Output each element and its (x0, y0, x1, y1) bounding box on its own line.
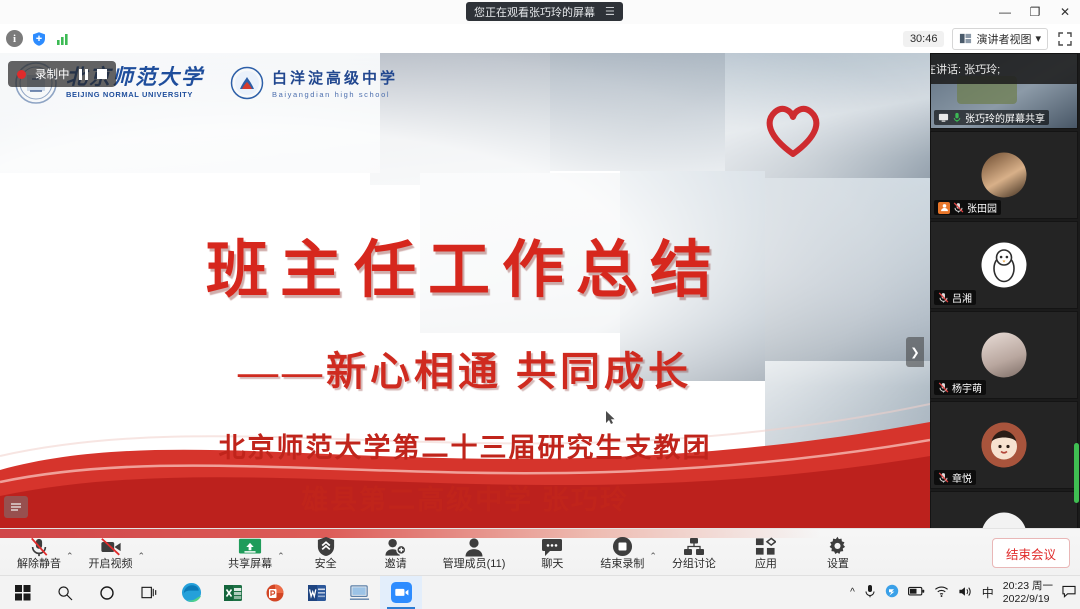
share-screen-label: 共享屏幕 (228, 559, 272, 570)
slide-presenter: 雄县第二高级中学 张巧玲 (0, 478, 930, 517)
active-speaker-label: 正在讲话: 张巧玲; (930, 61, 1000, 77)
pause-icon[interactable] (79, 69, 89, 80)
participants-icon (463, 535, 485, 557)
microphone-icon[interactable] (864, 584, 876, 601)
microphone-muted-icon (938, 292, 949, 303)
shared-screen-stage: 北京师范大学 BEIJING NORMAL UNIVERSITY 白洋淀高级中学… (0, 53, 1080, 528)
rail-scrollbar-thumb[interactable] (1074, 443, 1079, 503)
chat-label: 聊天 (541, 559, 563, 570)
edge-icon[interactable] (170, 576, 212, 609)
breakout-rooms-button[interactable]: 分组讨论 (665, 529, 723, 576)
collapse-video-panel-button[interactable]: ❯ (906, 337, 924, 367)
excel-icon[interactable] (212, 576, 254, 609)
volume-icon[interactable] (958, 585, 973, 601)
powerpoint-icon[interactable] (254, 576, 296, 609)
recording-label: 录制中 (35, 66, 70, 82)
view-mode-label: 演讲者视图 (976, 31, 1031, 47)
microphone-muted-icon (953, 202, 964, 213)
meeting-timer: 30:46 (903, 31, 945, 47)
task-view-icon[interactable] (128, 576, 170, 609)
word-icon[interactable] (296, 576, 338, 609)
invite-button[interactable]: 邀请 (367, 529, 425, 576)
mute-button-label: 解除静音 (17, 559, 61, 570)
recording-dot-icon (17, 70, 26, 79)
settings-label: 设置 (827, 559, 849, 570)
notification-icon[interactable] (1062, 585, 1076, 601)
participant-name: 吕湘 (952, 290, 972, 305)
microphone-muted-icon (29, 535, 49, 557)
meeting-status-icons: i (6, 24, 71, 53)
zoom-meeting-window: 您正在观看张巧玲的屏幕 ☰ — ❐ ✕ i 30:46 演讲者视图 ▾ (0, 0, 1080, 608)
participant-name-bar: 吕湘 (934, 290, 976, 305)
settings-button[interactable]: 设置 (809, 529, 867, 576)
view-mode-dropdown[interactable]: 演讲者视图 ▾ (952, 28, 1048, 50)
security-shield-icon (316, 535, 336, 557)
share-screen-icon (238, 535, 262, 557)
invite-label: 邀请 (385, 559, 407, 570)
baiyangdian-logo-cn: 白洋淀高级中学 (272, 67, 398, 88)
red-heart-drawing (762, 101, 824, 159)
end-meeting-button[interactable]: 结束会议 (992, 538, 1070, 568)
maximize-button[interactable]: ❐ (1020, 0, 1050, 24)
chat-bubble-icon (541, 535, 563, 557)
tray-chevron-up-icon[interactable]: ^ (850, 587, 855, 598)
screen-share-label: 张巧玲的屏幕共享 (934, 110, 1049, 125)
stop-recording-label: 结束录制 (600, 559, 644, 570)
slide-subtitle: ——新心相通 共同成长 (0, 339, 930, 397)
video-off-icon (100, 535, 122, 557)
window-title-bar: 您正在观看张巧玲的屏幕 ☰ — ❐ ✕ (0, 0, 1080, 25)
gear-icon (827, 535, 848, 557)
avatar (982, 423, 1027, 468)
host-badge-icon (938, 202, 950, 214)
screen-share-owner: 张巧玲的屏幕共享 (965, 110, 1045, 125)
manage-participants-label: 管理成员(11) (443, 559, 506, 570)
security-button[interactable]: 安全 (297, 529, 355, 576)
viewing-screen-notice: 您正在观看张巧玲的屏幕 ☰ (466, 2, 623, 21)
microphone-icon (952, 112, 962, 123)
taskbar-date: 2022/9/19 (1003, 593, 1053, 605)
minimize-button[interactable]: — (990, 0, 1020, 24)
baiyangdian-seal-icon (230, 66, 264, 100)
apps-label: 应用 (755, 559, 777, 570)
wifi-icon[interactable] (934, 585, 949, 601)
security-label: 安全 (315, 559, 337, 570)
info-icon[interactable]: i (6, 30, 23, 47)
recording-indicator: 录制中 (8, 61, 116, 87)
participant-tile[interactable]: 张田园 (930, 131, 1078, 219)
network-signal-icon[interactable] (54, 30, 71, 47)
apps-button[interactable]: 应用 (737, 529, 795, 576)
slide-title: 班主任工作总结 (0, 219, 930, 309)
screen-share-icon (938, 112, 949, 123)
baiyangdian-logo: 白洋淀高级中学 Baiyangdian high school (230, 66, 398, 100)
windows-taskbar: ^ 中 20:23 周一 2022/9/19 (0, 575, 1080, 609)
taskbar-clock[interactable]: 20:23 周一 2022/9/19 (1003, 580, 1053, 605)
speaker-view-icon (959, 32, 972, 45)
chevron-down-icon[interactable]: ▾ (1035, 32, 1041, 45)
window-controls: — ❐ ✕ (990, 0, 1080, 24)
shield-icon[interactable] (30, 30, 47, 47)
close-button[interactable]: ✕ (1050, 0, 1080, 24)
meeting-view-controls: 30:46 演讲者视图 ▾ (903, 24, 1074, 53)
remote-desktop-icon[interactable] (338, 576, 380, 609)
fullscreen-icon[interactable] (1056, 30, 1074, 48)
participant-video-rail: 张巧玲的屏幕共享 正在讲话: 张巧玲; 张田园 (930, 53, 1080, 528)
hamburger-icon[interactable]: ☰ (605, 5, 615, 18)
apps-grid-icon (755, 535, 776, 557)
breakout-rooms-label: 分组讨论 (672, 559, 716, 570)
viewing-screen-notice-text: 您正在观看张巧玲的屏幕 (474, 4, 595, 20)
bnu-logo-en: BEIJING NORMAL UNIVERSITY (66, 91, 204, 99)
meeting-top-bar: i 30:46 演讲者视图 ▾ (0, 24, 1080, 54)
participant-name-bar: 章悦 (934, 470, 976, 485)
zoom-icon[interactable] (380, 576, 422, 609)
stop-icon[interactable] (97, 69, 107, 79)
share-screen-button[interactable]: 共享屏幕 (221, 529, 279, 576)
start-button[interactable] (2, 576, 44, 609)
participant-name: 杨宇萌 (952, 380, 982, 395)
meeting-control-bar: 解除静音 ⌃ 开启视频 ⌃ 共享屏幕 ⌃ 安全 (0, 528, 1080, 576)
floating-toolbar-handle[interactable] (4, 496, 28, 518)
slide-org: 北京师范大学第二十三届研究生支教团 (0, 426, 930, 465)
video-button[interactable]: 开启视频 (82, 529, 140, 576)
participant-name: 张田园 (967, 200, 997, 215)
stop-recording-button[interactable]: 结束录制 (593, 529, 651, 576)
ime-indicator[interactable]: 中 (982, 584, 994, 601)
video-button-label: 开启视频 (89, 559, 133, 570)
microphone-muted-icon (938, 382, 949, 393)
microphone-muted-icon (938, 472, 949, 483)
breakout-rooms-icon (683, 535, 705, 557)
participant-name-bar: 张田园 (934, 200, 1001, 215)
chat-button[interactable]: 聊天 (523, 529, 581, 576)
participant-tile[interactable]: 吕湘 (930, 221, 1078, 309)
baiyangdian-logo-en: Baiyangdian high school (272, 90, 398, 99)
search-icon[interactable] (44, 576, 86, 609)
manage-participants-button[interactable]: 管理成员(11) (437, 529, 512, 576)
invite-person-icon (384, 535, 407, 557)
screen-share-thumbnail-tile[interactable]: 张巧玲的屏幕共享 正在讲话: 张巧玲; (930, 53, 1078, 129)
presentation-slide: 北京师范大学 BEIJING NORMAL UNIVERSITY 白洋淀高级中学… (0, 53, 930, 528)
taskbar-time: 20:23 周一 (1003, 580, 1053, 592)
participant-name: 章悦 (952, 470, 972, 485)
sync-icon[interactable] (885, 584, 899, 601)
mute-button[interactable]: 解除静音 (10, 529, 68, 576)
system-tray: ^ 中 20:23 周一 2022/9/19 (850, 576, 1076, 609)
battery-icon[interactable] (908, 586, 925, 600)
meeting-control-buttons: 解除静音 ⌃ 开启视频 ⌃ 共享屏幕 ⌃ 安全 (0, 529, 867, 576)
cortana-icon[interactable] (86, 576, 128, 609)
participant-tile[interactable]: 杨宇萌 (930, 311, 1078, 399)
participant-tile[interactable]: 章悦 (930, 401, 1078, 489)
avatar (982, 333, 1027, 378)
taskbar-apps (2, 576, 422, 609)
avatar (982, 243, 1027, 288)
participant-name-bar: 杨宇萌 (934, 380, 986, 395)
stop-record-icon (612, 535, 633, 557)
avatar (982, 153, 1027, 198)
active-speaker-banner: 正在讲话: 张巧玲; (930, 54, 1077, 84)
mouse-cursor (606, 411, 615, 424)
